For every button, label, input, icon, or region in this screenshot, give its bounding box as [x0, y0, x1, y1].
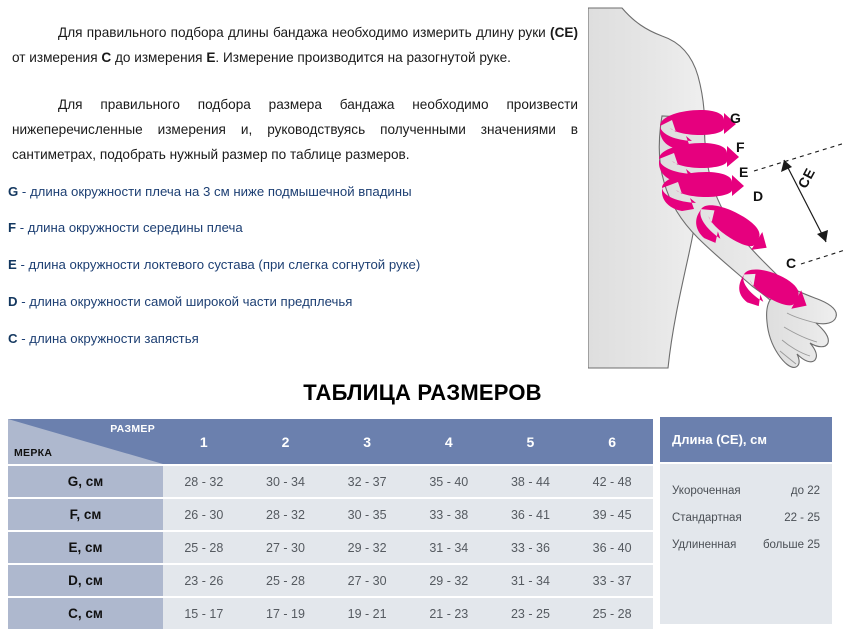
length-value-standard: 22 - 25: [784, 505, 820, 532]
figure-label-f: F: [736, 139, 745, 155]
cell-d-5: 31 - 34: [490, 565, 572, 596]
row-label-e: E, см: [8, 532, 163, 563]
cell-f-1: 26 - 30: [163, 499, 245, 530]
cell-f-6: 39 - 45: [571, 499, 653, 530]
page-title: ТАБЛИЦА РАЗМЕРОВ: [0, 380, 845, 406]
figure-label-g: G: [730, 110, 741, 126]
cell-e-3: 29 - 32: [326, 532, 408, 563]
intro-paragraph-1: Для правильного подбора длины бандажа не…: [12, 20, 578, 70]
length-value-shortened: до 22: [791, 478, 820, 505]
cell-g-5: 38 - 44: [490, 466, 572, 497]
size-table-grid: РАЗМЕР МЕРКА 1 2 3 4 5 6 G, см 28 - 32 3…: [8, 417, 653, 631]
cell-g-3: 32 - 37: [326, 466, 408, 497]
column-header-2: 2: [245, 419, 327, 464]
table-row: E, см 25 - 28 27 - 30 29 - 32 31 - 34 33…: [8, 532, 653, 563]
table-row: G, см 28 - 32 30 - 34 32 - 37 35 - 40 38…: [8, 466, 653, 497]
legend-desc-d: - длина окружности самой широкой части п…: [18, 294, 353, 309]
legend-desc-e: - длина окружности локтевого сустава (пр…: [17, 257, 420, 272]
figure-label-e: E: [739, 164, 748, 180]
intro-paragraph-2: Для правильного подбора размера бандажа …: [12, 92, 578, 167]
legend-item-e: E - длина окружности локтевого сустава (…: [8, 257, 420, 272]
intro-p1-segment-c: до измерения: [111, 50, 206, 65]
cell-g-6: 42 - 48: [571, 466, 653, 497]
length-name-shortened: Укороченная: [672, 478, 741, 505]
cell-f-5: 36 - 41: [490, 499, 572, 530]
column-header-5: 5: [490, 419, 572, 464]
legend-desc-f: - длина окружности середины плеча: [16, 220, 243, 235]
intro-p1-segment-a: Для правильного подбора длины бандажа не…: [58, 25, 550, 40]
length-panel: Длина (CE), см Укороченная до 22 Стандар…: [660, 417, 832, 624]
size-table: РАЗМЕР МЕРКА 1 2 3 4 5 6 G, см 28 - 32 3…: [8, 417, 653, 631]
column-header-6: 6: [571, 419, 653, 464]
length-row-standard: Стандартная 22 - 25: [672, 505, 820, 532]
size-table-body: G, см 28 - 32 30 - 34 32 - 37 35 - 40 38…: [8, 466, 653, 629]
legend-item-f: F - длина окружности середины плеча: [8, 220, 243, 235]
table-header-row: РАЗМЕР МЕРКА 1 2 3 4 5 6: [8, 419, 653, 464]
column-header-1: 1: [163, 419, 245, 464]
cell-e-5: 33 - 36: [490, 532, 572, 563]
figure-label-d: D: [753, 188, 763, 204]
length-name-extended: Удлиненная: [672, 532, 736, 559]
size-table-head: РАЗМЕР МЕРКА 1 2 3 4 5 6: [8, 419, 653, 464]
figure-label-c: C: [786, 255, 796, 271]
cell-f-2: 28 - 32: [245, 499, 327, 530]
table-row: F, см 26 - 30 28 - 32 30 - 35 33 - 38 36…: [8, 499, 653, 530]
intro-p1-segment-b: от измерения: [12, 50, 101, 65]
intro-p1-segment-d: . Измерение производится на разогнутой р…: [215, 50, 511, 65]
cell-e-4: 31 - 34: [408, 532, 490, 563]
column-header-4: 4: [408, 419, 490, 464]
legend-item-c: C - длина окружности запястья: [8, 331, 199, 346]
cell-d-6: 33 - 37: [571, 565, 653, 596]
legend-item-g: G - длина окружности плеча на 3 см ниже …: [8, 184, 412, 199]
length-panel-body: Укороченная до 22 Стандартная 22 - 25 Уд…: [660, 464, 832, 624]
legend-desc-g: - длина окружности плеча на 3 см ниже по…: [18, 184, 411, 199]
cell-g-1: 28 - 32: [163, 466, 245, 497]
length-row-extended: Удлиненная больше 25: [672, 532, 820, 559]
cell-f-3: 30 - 35: [326, 499, 408, 530]
legend-key-g: G: [8, 184, 18, 199]
intro-p1-bold-ce: (CE): [550, 25, 578, 40]
row-label-c: C, см: [8, 598, 163, 629]
legend-desc-c: - длина окружности запястья: [18, 331, 199, 346]
intro-p1-bold-c: C: [101, 50, 111, 65]
cell-c-5: 23 - 25: [490, 598, 572, 629]
cell-d-1: 23 - 26: [163, 565, 245, 596]
table-row: D, см 23 - 26 25 - 28 27 - 30 29 - 32 31…: [8, 565, 653, 596]
row-label-d: D, см: [8, 565, 163, 596]
length-value-extended: больше 25: [763, 532, 820, 559]
cell-f-4: 33 - 38: [408, 499, 490, 530]
legend-key-d: D: [8, 294, 18, 309]
length-row-shortened: Укороченная до 22: [672, 478, 820, 505]
corner-measure-label: МЕРКА: [14, 447, 52, 459]
legend-item-d: D - длина окружности самой широкой части…: [8, 294, 352, 309]
cell-e-1: 25 - 28: [163, 532, 245, 563]
cell-d-3: 27 - 30: [326, 565, 408, 596]
legend-key-f: F: [8, 220, 16, 235]
corner-cell: РАЗМЕР МЕРКА: [8, 419, 163, 464]
cell-c-4: 21 - 23: [408, 598, 490, 629]
row-label-g: G, см: [8, 466, 163, 497]
cell-c-6: 25 - 28: [571, 598, 653, 629]
table-row: C, см 15 - 17 17 - 19 19 - 21 21 - 23 23…: [8, 598, 653, 629]
length-panel-header: Длина (CE), см: [660, 417, 832, 462]
corner-size-label: РАЗМЕР: [110, 423, 155, 435]
legend-key-c: C: [8, 331, 18, 346]
cell-c-1: 15 - 17: [163, 598, 245, 629]
row-label-f: F, см: [8, 499, 163, 530]
length-name-standard: Стандартная: [672, 505, 742, 532]
cell-e-6: 36 - 40: [571, 532, 653, 563]
cell-c-3: 19 - 21: [326, 598, 408, 629]
cell-d-4: 29 - 32: [408, 565, 490, 596]
cell-g-4: 35 - 40: [408, 466, 490, 497]
instructions-text-column: Для правильного подбора длины бандажа не…: [0, 0, 588, 375]
column-header-3: 3: [326, 419, 408, 464]
legend-key-e: E: [8, 257, 17, 272]
cell-e-2: 27 - 30: [245, 532, 327, 563]
cell-c-2: 17 - 19: [245, 598, 327, 629]
cell-g-2: 30 - 34: [245, 466, 327, 497]
arm-measurement-illustration: G F E D C CE: [588, 0, 845, 375]
ce-dimension-line: [754, 143, 845, 264]
cell-d-2: 25 - 28: [245, 565, 327, 596]
